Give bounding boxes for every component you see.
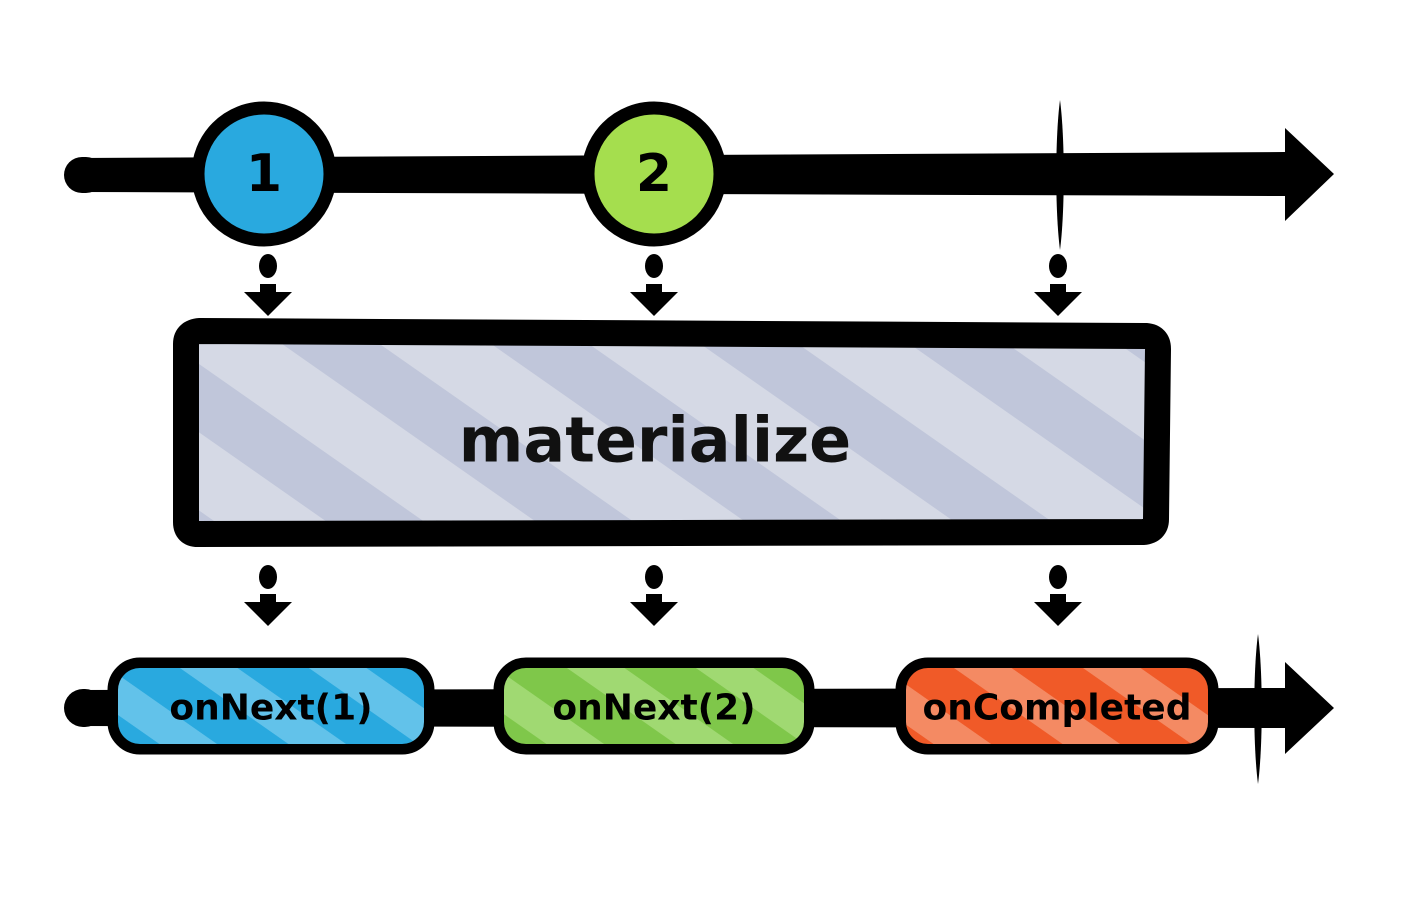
arrow-head bbox=[244, 594, 292, 626]
dashed-arrow-source-complete bbox=[1034, 254, 1082, 316]
arrow-head bbox=[244, 284, 292, 316]
arrow-head bbox=[630, 284, 678, 316]
arrow-head bbox=[1034, 594, 1082, 626]
source-marble-1[interactable]: 1 bbox=[198, 108, 330, 240]
dashed-arrow-out-1 bbox=[244, 565, 292, 626]
dashed-arrow-out-3 bbox=[1034, 565, 1082, 626]
marble-diagram-canvas: 1 2 materiali bbox=[0, 0, 1401, 901]
connectors-source-to-operator bbox=[244, 254, 1082, 316]
operator-box-group[interactable]: materialize bbox=[186, 331, 1158, 534]
output-marble-onnext-1-label: onNext(1) bbox=[169, 688, 372, 729]
materialize-marble-diagram: 1 2 materiali bbox=[0, 0, 1401, 901]
operator-box-label: materialize bbox=[459, 404, 851, 477]
arrow-head bbox=[1034, 284, 1082, 316]
source-marble-2[interactable]: 2 bbox=[588, 108, 720, 240]
dash-dot bbox=[645, 254, 663, 278]
output-marble-onnext-2-label: onNext(2) bbox=[552, 688, 755, 729]
output-timeline-group: onNext(1) onNext(2) onCompleted bbox=[64, 634, 1334, 784]
dashed-arrow-out-2 bbox=[630, 565, 678, 626]
output-timeline-left-cap bbox=[64, 689, 104, 727]
dash-dot bbox=[259, 254, 277, 278]
dash-dot bbox=[645, 565, 663, 589]
source-timeline-left-cap bbox=[64, 157, 104, 193]
source-completion-tick bbox=[1056, 100, 1064, 250]
source-timeline-group: 1 2 bbox=[64, 100, 1334, 250]
dash-dot bbox=[1049, 254, 1067, 278]
output-marble-oncompleted-label: onCompleted bbox=[923, 688, 1192, 729]
arrow-head bbox=[630, 594, 678, 626]
output-marble-oncompleted[interactable]: onCompleted bbox=[906, 668, 1208, 744]
source-marble-1-label: 1 bbox=[246, 144, 282, 204]
dash-dot bbox=[259, 565, 277, 589]
source-marble-2-label: 2 bbox=[636, 144, 672, 204]
dash-dot bbox=[1049, 565, 1067, 589]
output-completion-tick bbox=[1254, 634, 1262, 784]
output-marble-onnext-2[interactable]: onNext(2) bbox=[504, 668, 804, 744]
dashed-arrow-source-1 bbox=[244, 254, 292, 316]
output-marble-onnext-1[interactable]: onNext(1) bbox=[118, 668, 424, 744]
dashed-arrow-source-2 bbox=[630, 254, 678, 316]
connectors-operator-to-output bbox=[244, 565, 1082, 626]
